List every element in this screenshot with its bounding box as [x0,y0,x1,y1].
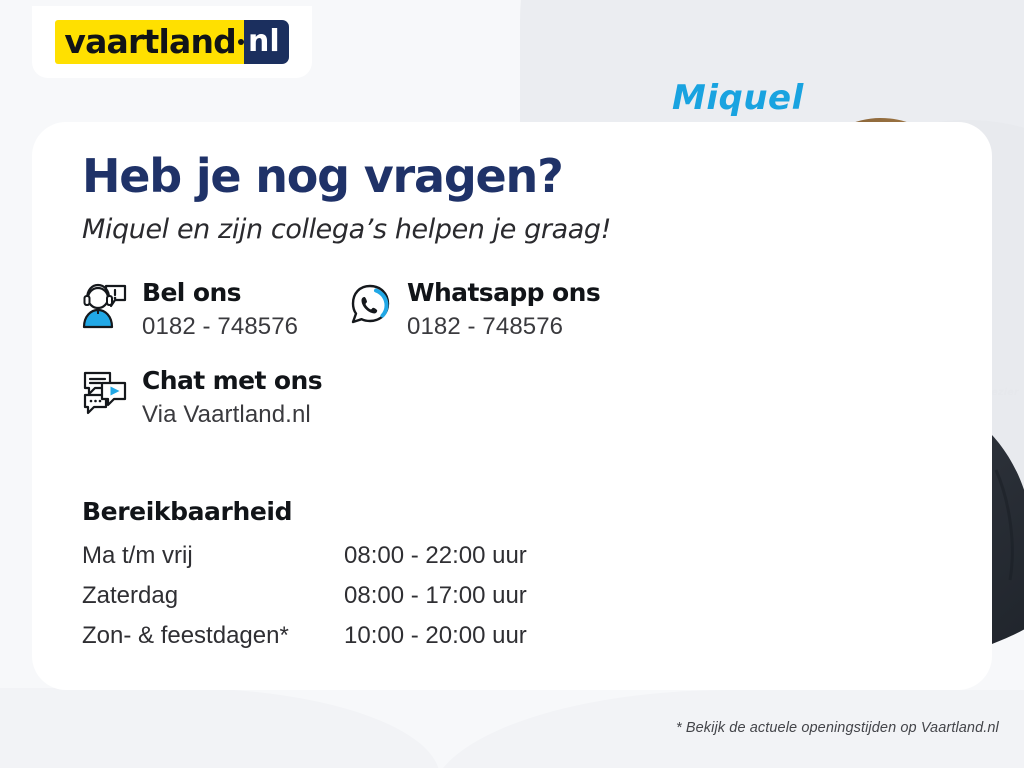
chat-bubbles-icon [82,369,128,417]
contact-text-chat: Chat met ons Via Vaartland.nl [142,367,322,428]
footnote-text: * Bekijk de actuele openingstijden op Va… [676,720,999,736]
table-row: Zon- & feestdagen* 10:00 - 20:00 uur [82,622,527,662]
hours-time: 10:00 - 20:00 uur [344,622,527,662]
page-subtitle: Miquel en zijn collega’s helpen je graag… [82,214,611,245]
content-card: Heb je nog vragen? Miquel en zijn colleg… [32,122,992,690]
contact-item-chat[interactable]: Chat met ons Via Vaartland.nl [82,367,322,428]
contact-item-whatsapp[interactable]: Whatsapp ons 0182 - 748576 [347,279,600,340]
contact-item-call[interactable]: Bel ons 0182 - 748576 [82,279,298,340]
hours-table: Ma t/m vrij 08:00 - 22:00 uur Zaterdag 0… [82,542,527,662]
logo-dot-icon [238,39,244,45]
contact-text-call: Bel ons 0182 - 748576 [142,279,298,340]
hours-time: 08:00 - 22:00 uur [344,542,527,582]
logo-lockup: vaartland nl [55,20,288,64]
site-logo[interactable]: vaartland nl [32,6,312,78]
page-title: Heb je nog vragen? [82,149,563,203]
logo-tld-badge: nl [244,20,289,64]
table-row: Ma t/m vrij 08:00 - 22:00 uur [82,542,527,582]
contact-value-whatsapp: 0182 - 748576 [407,313,600,341]
contact-title-whatsapp: Whatsapp ons [407,279,600,308]
logo-tld-text: nl [248,24,280,59]
promo-banner: vaartland nl [0,0,1024,768]
contact-title-chat: Chat met ons [142,367,322,396]
hours-heading: Bereikbaarheid [82,497,292,526]
background-shape-bottom-left [0,688,440,768]
whatsapp-icon [347,281,393,329]
contact-value-call: 0182 - 748576 [142,313,298,341]
hours-day: Ma t/m vrij [82,542,344,582]
headset-person-icon [82,281,128,329]
logo-wordmark: vaartland [55,20,244,64]
hours-day: Zaterdag [82,582,344,622]
hours-time: 08:00 - 17:00 uur [344,582,527,622]
contact-text-whatsapp: Whatsapp ons 0182 - 748576 [407,279,600,340]
contact-title-call: Bel ons [142,279,298,308]
table-row: Zaterdag 08:00 - 17:00 uur [82,582,527,622]
contact-value-chat: Via Vaartland.nl [142,401,322,429]
hours-day: Zon- & feestdagen* [82,622,344,662]
